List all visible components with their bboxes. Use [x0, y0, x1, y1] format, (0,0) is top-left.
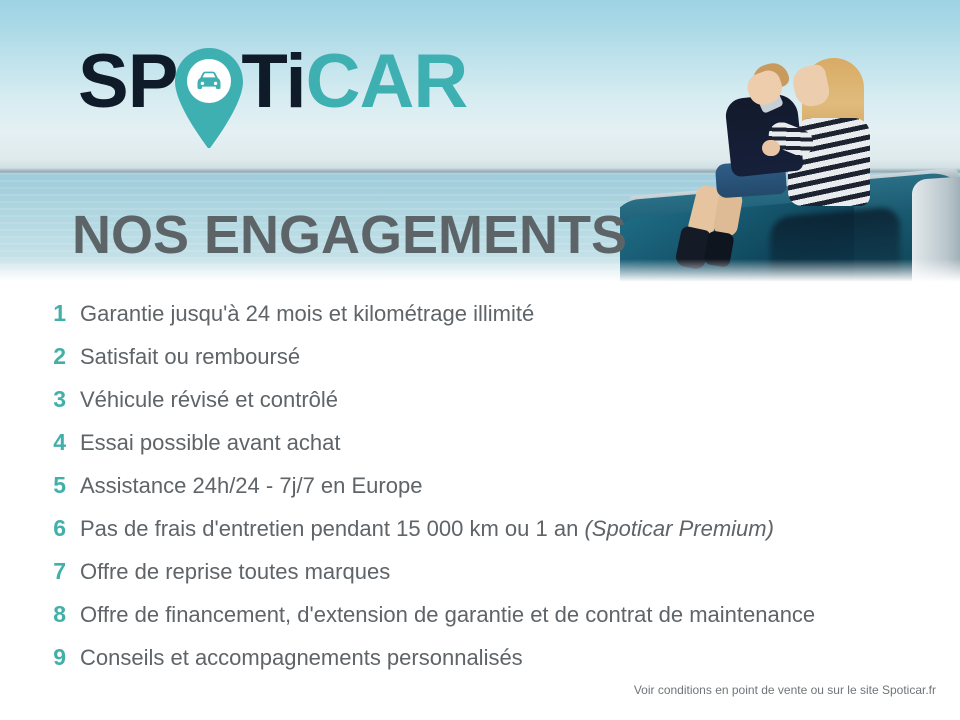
- commitment-row: 5Assistance 24h/24 - 7j/7 en Europe: [0, 472, 960, 515]
- logo-text-car: CAR: [306, 44, 468, 120]
- commitment-row: 2Satisfait ou remboursé: [0, 343, 960, 386]
- commitments-list: 1Garantie jusqu'à 24 mois et kilométrage…: [0, 300, 960, 687]
- commitment-row: 6Pas de frais d'entretien pendant 15 000…: [0, 515, 960, 558]
- commitment-number: 5: [22, 472, 80, 499]
- commitment-number: 8: [22, 601, 80, 628]
- commitment-number: 1: [22, 300, 80, 327]
- commitment-text: Pas de frais d'entretien pendant 15 000 …: [80, 516, 774, 542]
- commitment-text-emphasis: (Spoticar Premium): [584, 516, 773, 541]
- commitment-number: 4: [22, 429, 80, 456]
- commitment-text: Conseils et accompagnements personnalisé…: [80, 645, 523, 671]
- commitment-row: 4Essai possible avant achat: [0, 429, 960, 472]
- commitment-row: 1Garantie jusqu'à 24 mois et kilométrage…: [0, 300, 960, 343]
- map-pin-car-icon: [173, 46, 245, 150]
- commitment-number: 6: [22, 515, 80, 542]
- spoticar-logo: SP Ti CAR: [78, 44, 467, 120]
- logo-text-ti: Ti: [241, 44, 305, 120]
- commitment-text: Garantie jusqu'à 24 mois et kilométrage …: [80, 301, 534, 327]
- commitment-row: 9Conseils et accompagnements personnalis…: [0, 644, 960, 687]
- commitment-row: 7Offre de reprise toutes marques: [0, 558, 960, 601]
- commitment-number: 7: [22, 558, 80, 585]
- commitment-text: Essai possible avant achat: [80, 430, 341, 456]
- commitment-number: 3: [22, 386, 80, 413]
- page-title: NOS ENGAGEMENTS: [72, 204, 627, 266]
- commitment-text: Offre de reprise toutes marques: [80, 559, 390, 585]
- legal-footnote: Voir conditions en point de vente ou sur…: [634, 683, 936, 697]
- commitment-text: Satisfait ou remboursé: [80, 344, 300, 370]
- commitment-number: 9: [22, 644, 80, 671]
- commitment-number: 2: [22, 343, 80, 370]
- commitment-row: 8Offre de financement, d'extension de ga…: [0, 601, 960, 644]
- logo-text-sp: SP: [78, 44, 177, 120]
- spoticar-commitments-poster: SP Ti CAR NOS ENGAGEMENTS 1Garantie jusq…: [0, 0, 960, 720]
- commitment-text: Assistance 24h/24 - 7j/7 en Europe: [80, 473, 422, 499]
- woman-hand: [762, 140, 780, 156]
- commitment-row: 3Véhicule révisé et contrôlé: [0, 386, 960, 429]
- hero-photo: [620, 0, 960, 285]
- commitment-text: Véhicule révisé et contrôlé: [80, 387, 338, 413]
- commitment-text: Offre de financement, d'extension de gar…: [80, 602, 815, 628]
